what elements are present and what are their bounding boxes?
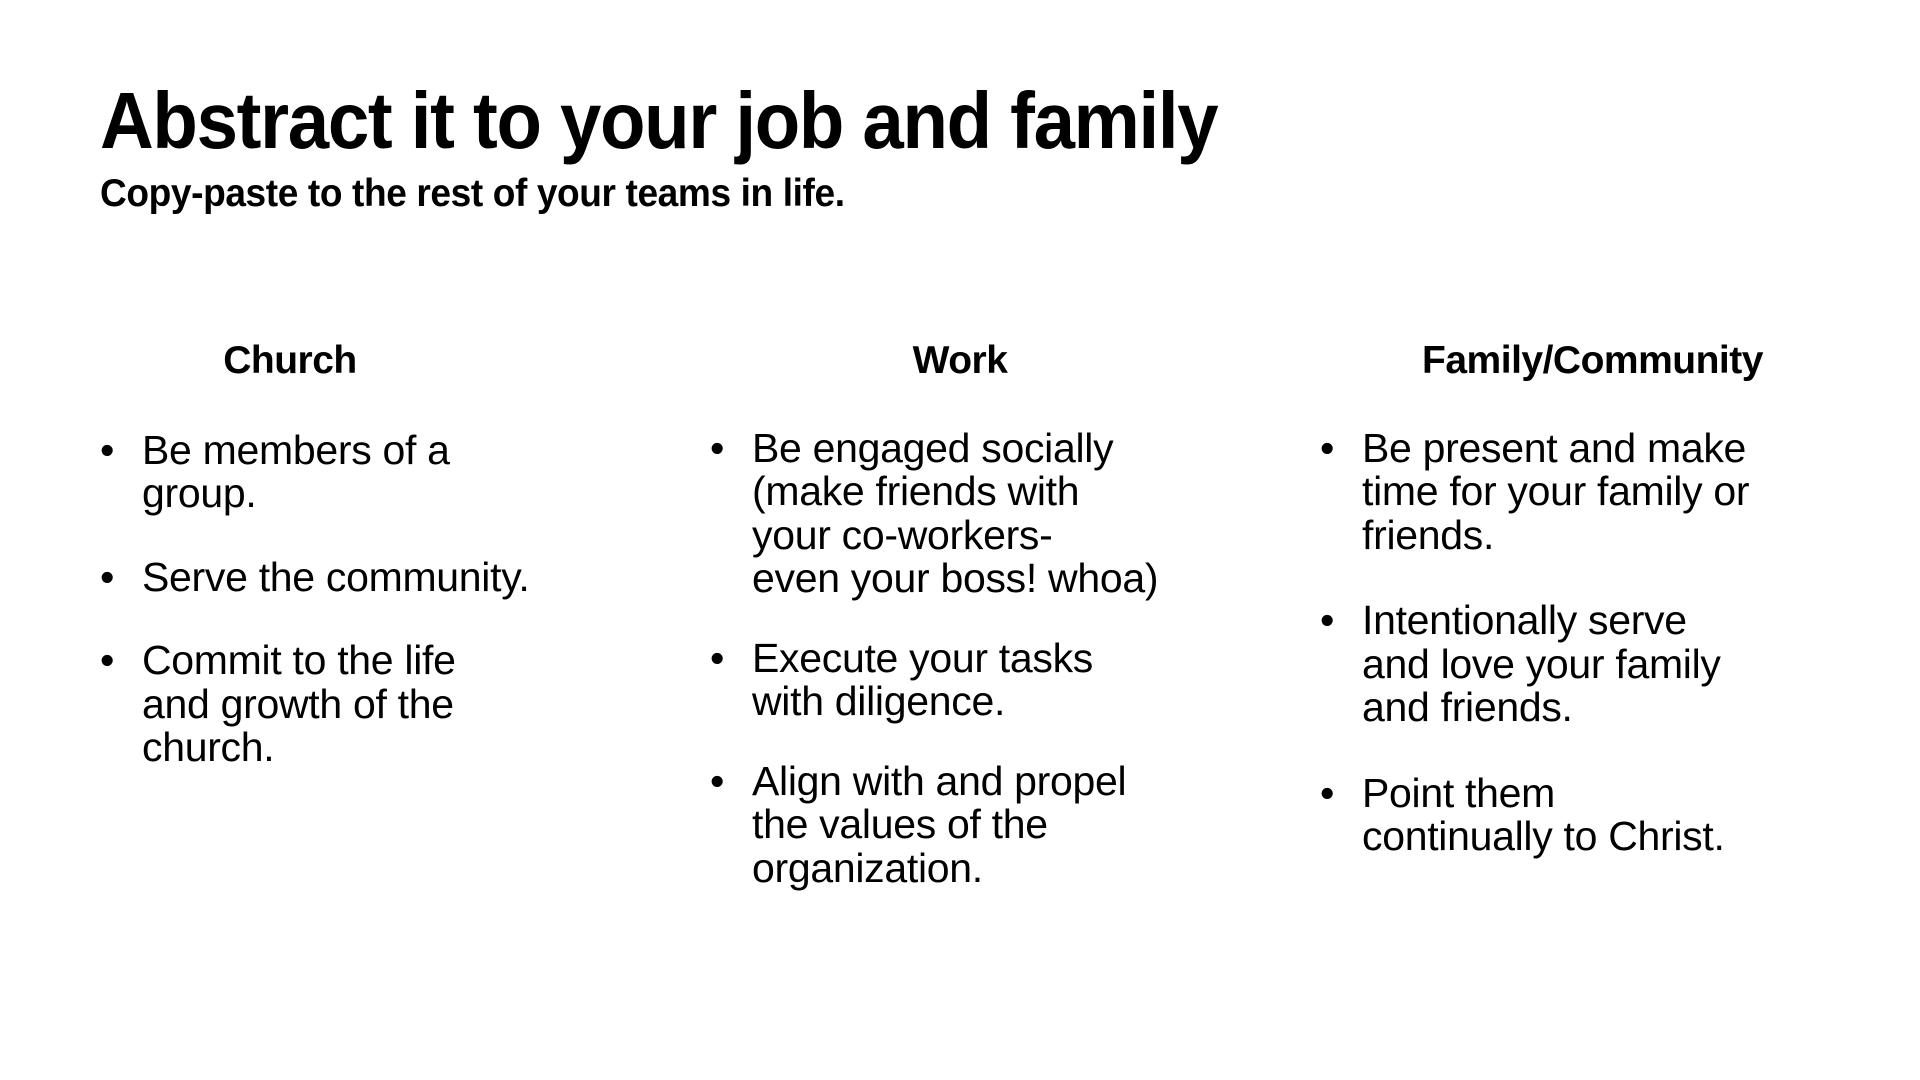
slide-header: Abstract it to your job and family Copy-… <box>100 82 1840 215</box>
bullet-point-icon: • <box>710 637 752 680</box>
list-item: • Point them continually to Christ. <box>1320 772 1865 859</box>
list-item: • Execute your tasks with diligence. <box>710 637 1250 724</box>
list-item-text: Be engaged socially (make friends with y… <box>752 427 1250 601</box>
column-family-community: Family/Community • Be present and make t… <box>1320 340 1865 901</box>
bullet-point-icon: • <box>100 429 142 472</box>
list-item-text: Serve the community. <box>142 556 572 599</box>
bullet-point-icon: • <box>1320 599 1362 642</box>
slide-canvas: Abstract it to your job and family Copy-… <box>0 0 1920 1080</box>
bullet-point-icon: • <box>710 760 752 803</box>
list-item-text: Execute your tasks with diligence. <box>752 637 1250 724</box>
bullet-point-icon: • <box>1320 772 1362 815</box>
column-header-family-community: Family/Community <box>1320 340 1865 383</box>
bullet-list-work: • Be engaged socially (make friends with… <box>710 427 1250 890</box>
bullet-list-church: • Be members of a group. • Serve the com… <box>100 429 660 770</box>
column-header-church: Church <box>100 340 660 383</box>
list-item-text: Intentionally serve and love your family… <box>1362 599 1862 729</box>
column-work: Work • Be engaged socially (make friends… <box>710 340 1250 926</box>
bullet-point-icon: • <box>100 556 142 599</box>
list-item: • Intentionally serve and love your fami… <box>1320 599 1865 729</box>
bullet-list-family-community: • Be present and make time for your fami… <box>1320 427 1865 859</box>
page-subtitle: Copy-paste to the rest of your teams in … <box>100 174 1753 215</box>
list-item-text: Point them continually to Christ. <box>1362 772 1862 859</box>
column-header-work: Work <box>710 340 1250 383</box>
bullet-point-icon: • <box>100 639 142 682</box>
columns-container: Church • Be members of a group. • Serve … <box>0 340 1920 1040</box>
list-item-text: Align with and propel the values of the … <box>752 760 1250 890</box>
list-item: • Serve the community. <box>100 556 660 599</box>
list-item: • Align with and propel the values of th… <box>710 760 1250 890</box>
column-church: Church • Be members of a group. • Serve … <box>100 340 660 770</box>
bullet-point-icon: • <box>710 427 752 470</box>
list-item-text: Be members of a group. <box>142 429 572 516</box>
page-title: Abstract it to your job and family <box>100 82 1718 160</box>
bullet-point-icon: • <box>1320 427 1362 470</box>
list-item-text: Commit to the life and growth of the chu… <box>142 639 572 769</box>
list-item: • Be engaged socially (make friends with… <box>710 427 1250 601</box>
list-item-text: Be present and make time for your family… <box>1362 427 1862 557</box>
list-item: • Commit to the life and growth of the c… <box>100 639 660 769</box>
list-item: • Be members of a group. <box>100 429 660 516</box>
list-item: • Be present and make time for your fami… <box>1320 427 1865 557</box>
